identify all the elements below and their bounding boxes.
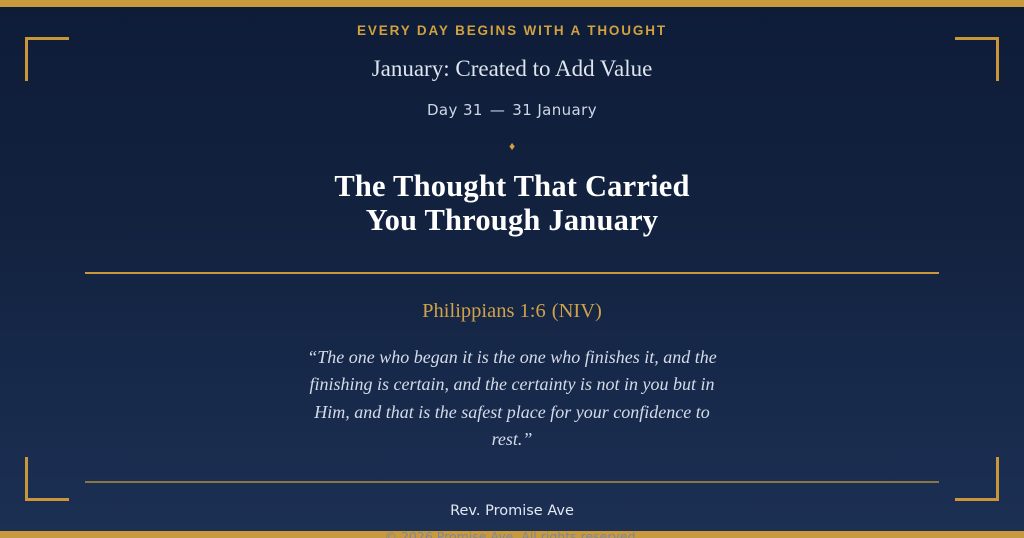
page-title: The Thought That Carried You Through Jan… xyxy=(0,170,1024,238)
scripture-reference-text: Philippians 1:6 xyxy=(422,300,546,322)
scripture-quote: “The one who began it is the one who fin… xyxy=(297,344,727,453)
series-title: January: Created to Add Value xyxy=(0,56,1024,81)
day-label: Day 31 xyxy=(427,101,483,119)
date-label: 31 January xyxy=(512,101,597,119)
divider-top xyxy=(85,272,939,274)
card-content: EVERY DAY BEGINS WITH A THOUGHT January:… xyxy=(0,0,1024,538)
day-date-line: Day 31—31 January xyxy=(0,103,1024,118)
author-name: Rev. Promise Ave xyxy=(0,504,1024,519)
devotional-card: EVERY DAY BEGINS WITH A THOUGHT January:… xyxy=(0,0,1024,538)
diamond-ornament-icon: ♦ xyxy=(0,140,1024,152)
kicker-text: EVERY DAY BEGINS WITH A THOUGHT xyxy=(0,24,1024,38)
scripture-version: (NIV) xyxy=(546,300,602,322)
day-separator: — xyxy=(483,101,512,119)
page-title-line-2: You Through January xyxy=(0,204,1024,238)
copyright-text: © 2026 Promise Ave. All rights reserved. xyxy=(0,531,1024,538)
divider-bottom xyxy=(85,481,939,483)
page-title-line-1: The Thought That Carried xyxy=(0,170,1024,204)
scripture-reference: Philippians 1:6(NIV) xyxy=(0,301,1024,322)
